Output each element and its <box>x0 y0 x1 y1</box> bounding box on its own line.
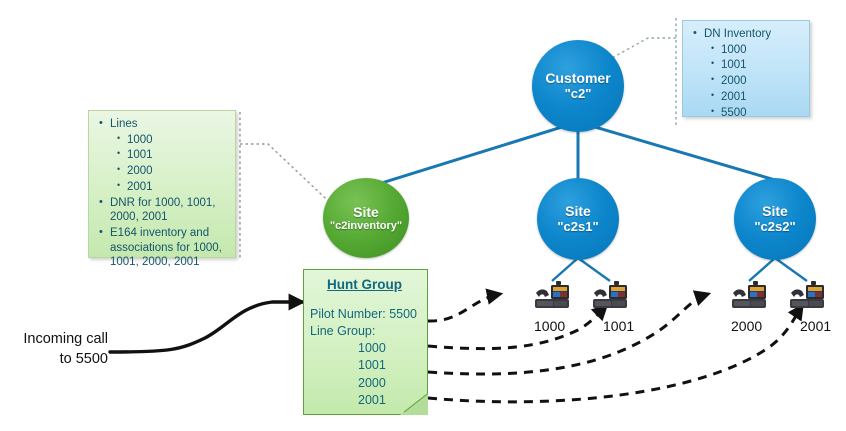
callout-dn-inventory-sub-item: 5500 <box>721 106 801 121</box>
hunt-group-pilot-number: Pilot Number: 5500 <box>310 306 419 323</box>
callout-lines-sub-item: 1000 <box>127 133 227 148</box>
callout-lines-list: Lines 1000 1001 2000 2001 DNR for 1000, … <box>97 117 227 270</box>
callout-dn-inventory-heading-item: DN Inventory 1000 1001 2000 2001 5500 <box>704 27 801 120</box>
node-customer-label-line1: Customer <box>545 70 610 86</box>
route-1000-to-phone <box>428 294 500 321</box>
phone-label-1000: 1000 <box>534 318 565 334</box>
incoming-call-line1: Incoming call <box>8 330 108 350</box>
callout-dn-inventory-sub-item: 1000 <box>721 43 801 58</box>
node-customer-label-line2: "c2" <box>565 87 592 102</box>
callout-dn-inventory-sub-item: 2001 <box>721 90 801 105</box>
callout-lines: Lines 1000 1001 2000 2001 DNR for 1000, … <box>88 110 236 258</box>
hunt-group-title: Hunt Group <box>310 276 419 295</box>
node-customer-c2[interactable]: Customer "c2" <box>532 40 624 132</box>
callout-dn-inventory-list: DN Inventory 1000 1001 2000 2001 5500 <box>691 27 801 120</box>
node-site-inventory-label-line2: "c2inventory" <box>330 220 402 233</box>
node-site-c2s1-label-line1: Site <box>565 203 591 219</box>
node-site-c2s1[interactable]: Site "c2s1" <box>537 178 619 260</box>
hunt-group-note[interactable]: Hunt Group Pilot Number: 5500 Line Group… <box>303 269 428 415</box>
callout-lines-heading: Lines <box>110 118 138 130</box>
node-site-inventory-label-line1: Site <box>353 204 379 220</box>
ip-phone-glyph <box>790 281 824 308</box>
phone-label-2000: 2000 <box>731 318 762 334</box>
route-1001-to-phone <box>428 306 606 349</box>
incoming-call-label: Incoming call to 5500 <box>8 330 108 369</box>
hunt-group-line-group-label: Line Group: <box>310 323 419 340</box>
callout-dn-inventory-sub-item: 2000 <box>721 74 801 89</box>
callout-dn-inventory-sub-item: 1001 <box>721 58 801 73</box>
callout-lines-e164-item: E164 inventory and associations for 1000… <box>110 226 227 270</box>
phone-icon[interactable] <box>532 280 572 312</box>
callout-lines-dnr-item: DNR for 1000, 1001, 2000, 2001 <box>110 196 227 225</box>
phone-icon[interactable] <box>729 280 769 312</box>
hunt-group-member: 1000 <box>310 340 419 357</box>
phone-icon[interactable] <box>787 280 827 312</box>
incoming-call-line2: to 5500 <box>8 350 108 370</box>
callout-lines-sub-item: 2001 <box>127 180 227 195</box>
node-site-c2s1-label-line2: "c2s1" <box>557 220 598 235</box>
phone-label-2001: 2001 <box>800 318 831 334</box>
diagram-canvas: Customer "c2" Site "c2inventory" Site "c… <box>0 0 846 431</box>
hunt-group-member: 2000 <box>310 375 419 392</box>
phone-icon[interactable] <box>590 280 630 312</box>
callout-dn-inventory: DN Inventory 1000 1001 2000 2001 5500 <box>682 20 810 117</box>
node-site-c2s2-label-line2: "c2s2" <box>754 220 795 235</box>
callout-dn-inventory-sublist: 1000 1001 2000 2001 5500 <box>704 43 801 121</box>
incoming-call-arrow <box>110 302 303 352</box>
ip-phone-glyph <box>732 281 766 308</box>
node-site-c2inventory[interactable]: Site "c2inventory" <box>323 178 409 258</box>
node-site-c2s2-label-line1: Site <box>762 203 788 219</box>
callout-lines-sub-item: 1001 <box>127 148 227 163</box>
callout-lines-heading-item: Lines 1000 1001 2000 2001 <box>110 117 227 195</box>
phone-label-1001: 1001 <box>603 318 634 334</box>
callout-lines-sub-item: 2000 <box>127 164 227 179</box>
ip-phone-glyph <box>593 281 627 308</box>
node-site-c2s2[interactable]: Site "c2s2" <box>734 178 816 260</box>
hunt-group-member: 1001 <box>310 357 419 374</box>
callout-lines-sublist: 1000 1001 2000 2001 <box>110 133 227 195</box>
ip-phone-glyph <box>535 281 569 308</box>
callout-dn-inventory-heading: DN Inventory <box>704 28 771 40</box>
